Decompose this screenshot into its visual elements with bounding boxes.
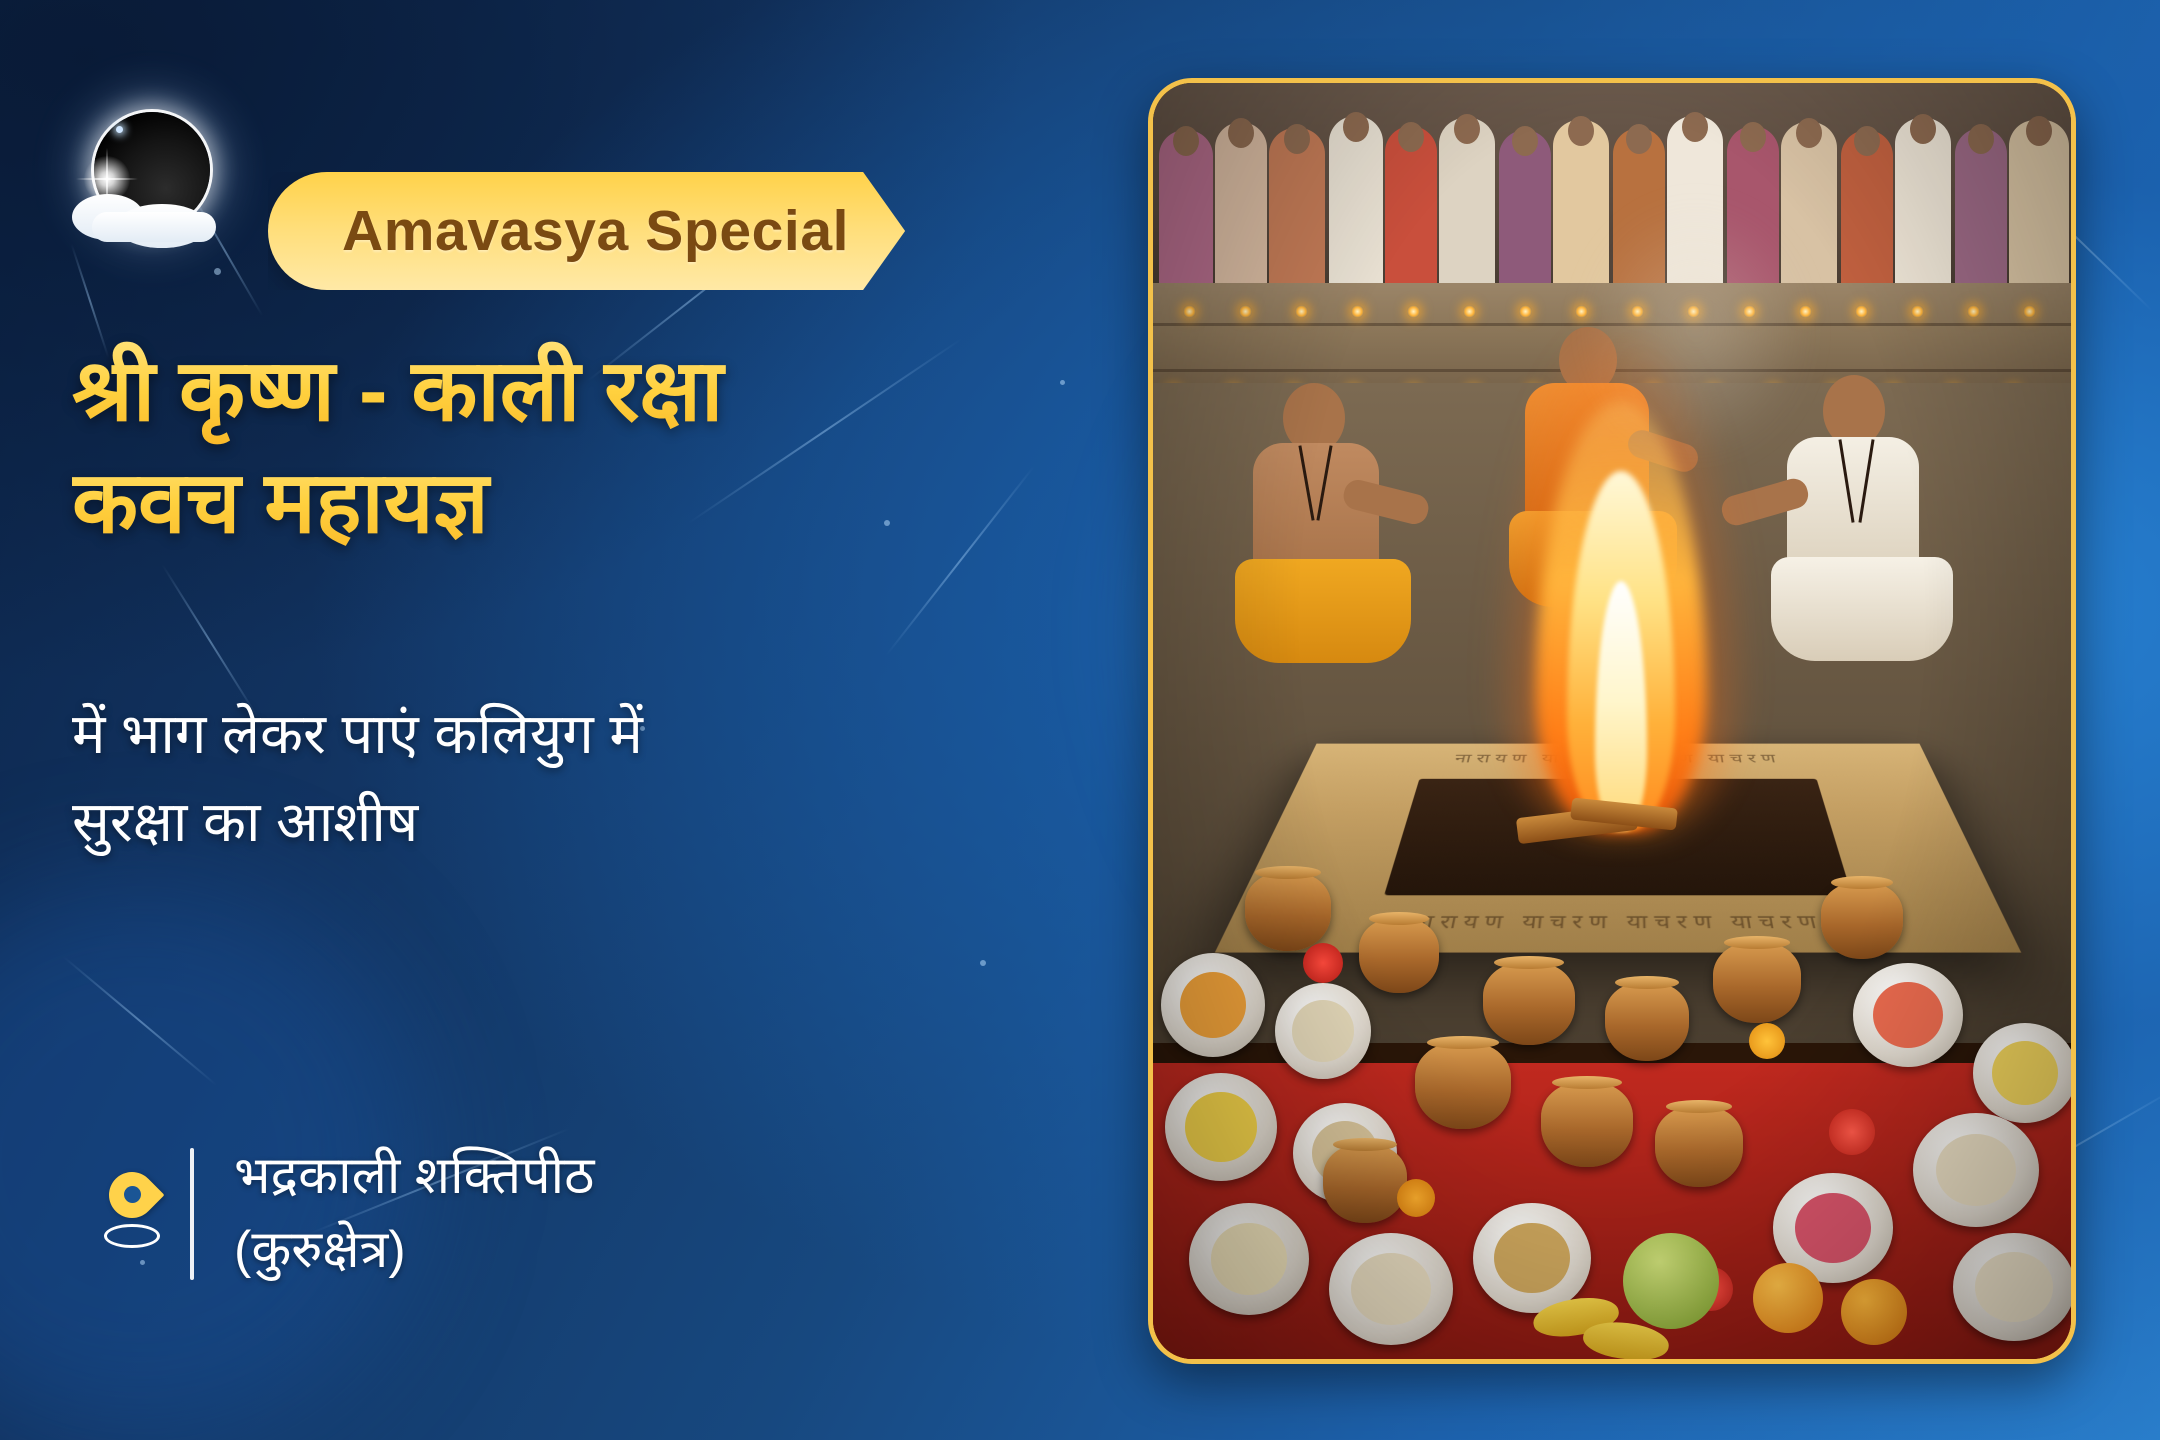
vertical-divider bbox=[190, 1148, 194, 1280]
badge-label: Amavasya Special bbox=[342, 198, 849, 264]
subtitle-line-1: में भाग लेकर पाएं कलियुग में bbox=[72, 690, 1012, 778]
photo-vignette bbox=[1153, 83, 2071, 1359]
page-title: श्री कृष्ण - काली रक्षा कवच महायज्ञ bbox=[72, 336, 1032, 560]
amavasya-special-badge[interactable]: Amavasya Special bbox=[268, 172, 905, 290]
map-pin-icon bbox=[80, 1172, 184, 1256]
promo-banner: Amavasya Special श्री कृष्ण - काली रक्षा… bbox=[0, 0, 2160, 1440]
title-line-2: कवच महायज्ञ bbox=[72, 448, 1032, 560]
pin-base-ellipse bbox=[104, 1224, 160, 1248]
title-line-1: श्री कृष्ण - काली रक्षा bbox=[72, 336, 1032, 448]
eclipse-spark bbox=[116, 126, 123, 133]
pin-hole bbox=[124, 1186, 141, 1203]
ceremony-photo-card: नारायण याचरण याचरण याचरण नारायण याचरण या… bbox=[1148, 78, 2076, 1364]
solar-eclipse-icon bbox=[76, 108, 236, 248]
left-content-column: Amavasya Special श्री कृष्ण - काली रक्षा… bbox=[0, 0, 1090, 1440]
subtitle-text: में भाग लेकर पाएं कलियुग में सुरक्षा का … bbox=[72, 690, 1012, 867]
havan-yagna-ceremony-photo: नारायण याचरण याचरण याचरण नारायण याचरण या… bbox=[1153, 83, 2071, 1359]
subtitle-line-2: सुरक्षा का आशीष bbox=[72, 778, 1012, 866]
venue-info: भद्रकाली शक्तिपीठ (कुरुक्षेत्र) bbox=[80, 1140, 594, 1288]
cloud-base bbox=[92, 212, 216, 242]
venue-city: (कुरुक्षेत्र) bbox=[234, 1214, 594, 1288]
venue-name: भद्रकाली शक्तिपीठ bbox=[234, 1140, 594, 1214]
